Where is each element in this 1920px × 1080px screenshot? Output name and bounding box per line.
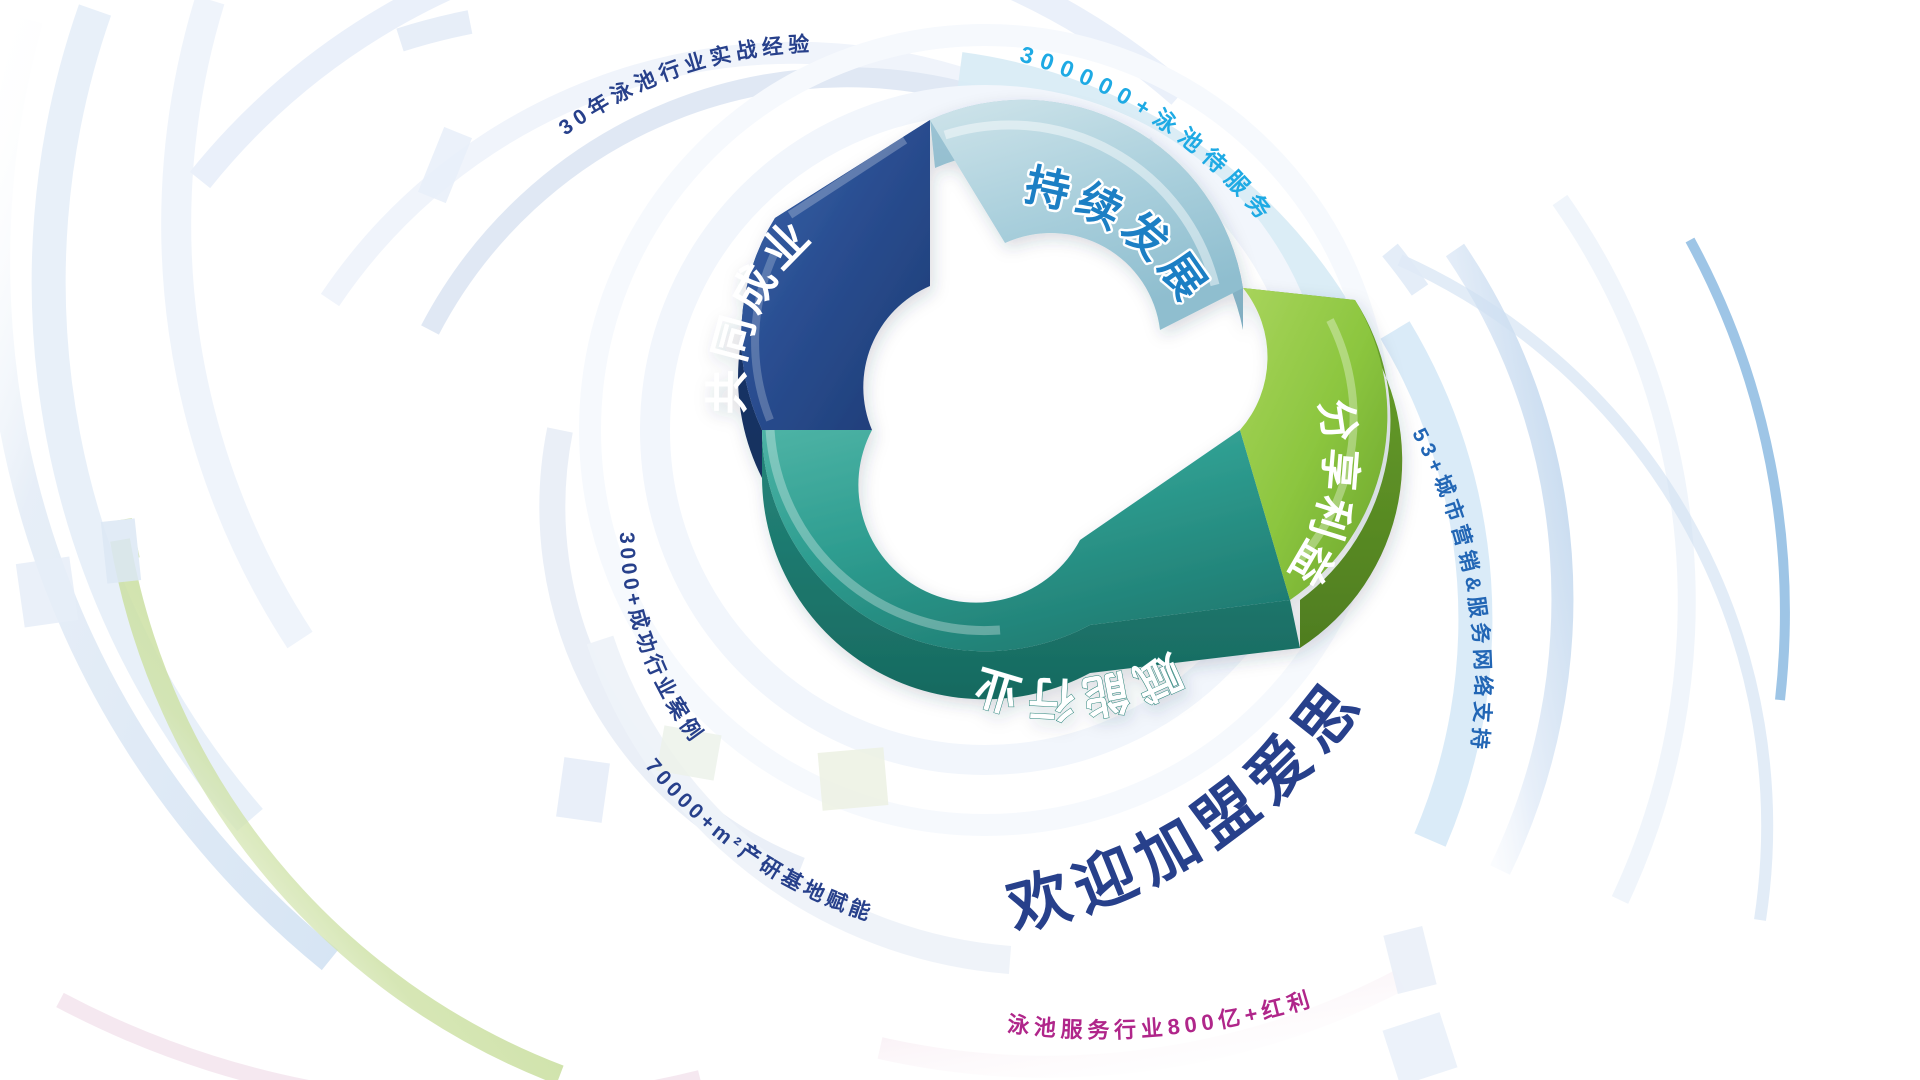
poster-canvas: 赋能行业 分享利益 持续发展 (0, 0, 1920, 1080)
arc-label-cities: 53+城市营销&服务网络支持 (1407, 425, 1495, 756)
ring-arc-right-2 (1560, 200, 1687, 900)
infographic-artwork: 赋能行业 分享利益 持续发展 (0, 0, 1920, 1080)
ring-arc-outer-left-2 (49, 10, 250, 820)
ring-arc-pink-left (60, 1000, 700, 1080)
donut-segment-gongtongchengye[interactable]: 共同成业 (704, 120, 930, 478)
